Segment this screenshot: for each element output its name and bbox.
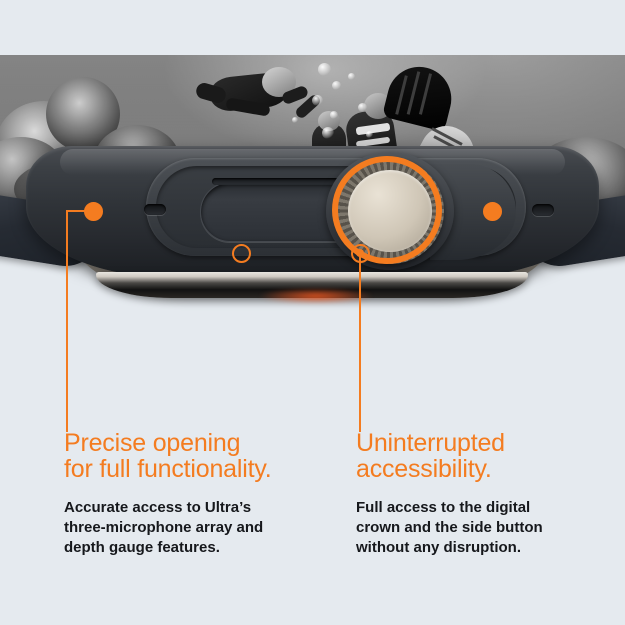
digital-crown-highlight-ring [332,156,442,264]
marketing-feature-panel: Precise opening for full functionality. … [0,0,625,625]
air-bubble [358,103,367,112]
air-bubble [348,73,355,80]
air-bubble [292,117,298,123]
air-bubble [318,63,331,76]
protective-case-shell [26,146,599,278]
side-button-marker[interactable] [483,202,502,221]
microphone-opening-marker[interactable] [232,244,251,263]
leader-line-vertical-mic [66,210,68,432]
air-bubble [366,131,373,138]
air-bubble [322,127,334,139]
digital-crown-marker[interactable] [351,244,370,263]
leader-line-vertical-crown [359,253,361,432]
sensor-glow [258,288,374,304]
feature-block-uninterrupted-accessibility: Uninterrupted accessibility. Full access… [356,430,586,558]
air-bubble [312,95,323,106]
feature-headline-uninterrupted-accessibility: Uninterrupted accessibility. [356,430,586,482]
feature-body-precise-opening: Accurate access to Ultra’s three-microph… [64,498,336,558]
air-bubble [330,111,338,119]
air-bubble [332,81,341,90]
side-button-port [532,204,554,216]
feature-body-uninterrupted-accessibility: Full access to the digital crown and the… [356,498,586,558]
precise-opening-marker[interactable] [84,202,103,221]
smartwatch-case-bottom-view [0,146,625,316]
feature-headline-precise-opening: Precise opening for full functionality. [64,430,336,482]
speaker-port-left [144,204,166,215]
feature-block-precise-opening: Precise opening for full functionality. … [64,430,336,558]
